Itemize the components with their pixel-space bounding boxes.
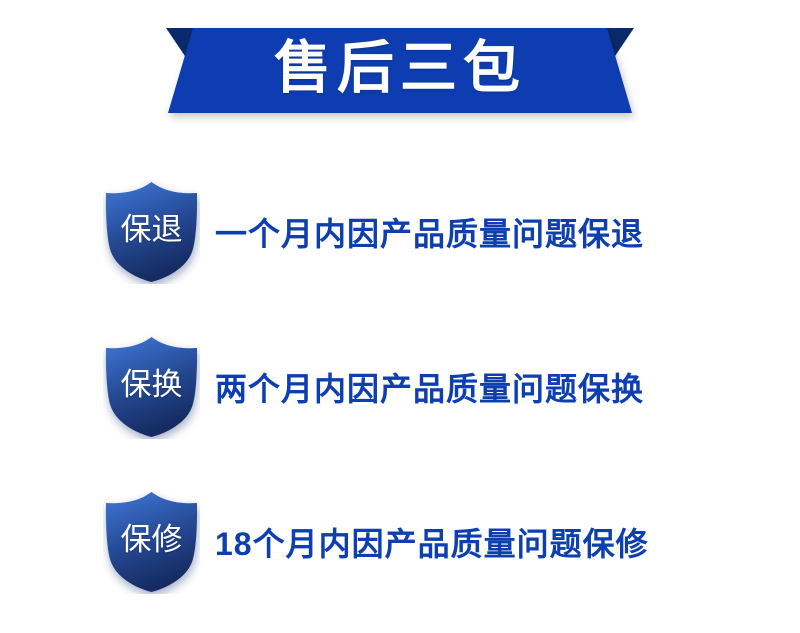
- banner: 售后三包: [0, 0, 800, 140]
- shield-badge-label: 保修: [103, 490, 200, 594]
- shield-badge-label: 保退: [103, 180, 200, 284]
- guarantee-row: 保换 两个月内因产品质量问题保换: [0, 323, 800, 478]
- guarantee-description: 18个月内因产品质量问题保修: [215, 490, 649, 594]
- guarantee-row: 保修 18个月内因产品质量问题保修: [0, 478, 800, 633]
- guarantee-description: 两个月内因产品质量问题保换: [215, 335, 644, 439]
- shield-badge-label: 保换: [103, 335, 200, 439]
- guarantee-list: 保退 一个月内因产品质量问题保退 保换: [0, 168, 800, 633]
- guarantee-row: 保退 一个月内因产品质量问题保退: [0, 168, 800, 323]
- guarantee-description: 一个月内因产品质量问题保退: [215, 180, 644, 284]
- shield-badge: 保退: [103, 180, 200, 284]
- shield-badge: 保修: [103, 490, 200, 594]
- shield-badge: 保换: [103, 335, 200, 439]
- page-title: 售后三包: [0, 32, 800, 104]
